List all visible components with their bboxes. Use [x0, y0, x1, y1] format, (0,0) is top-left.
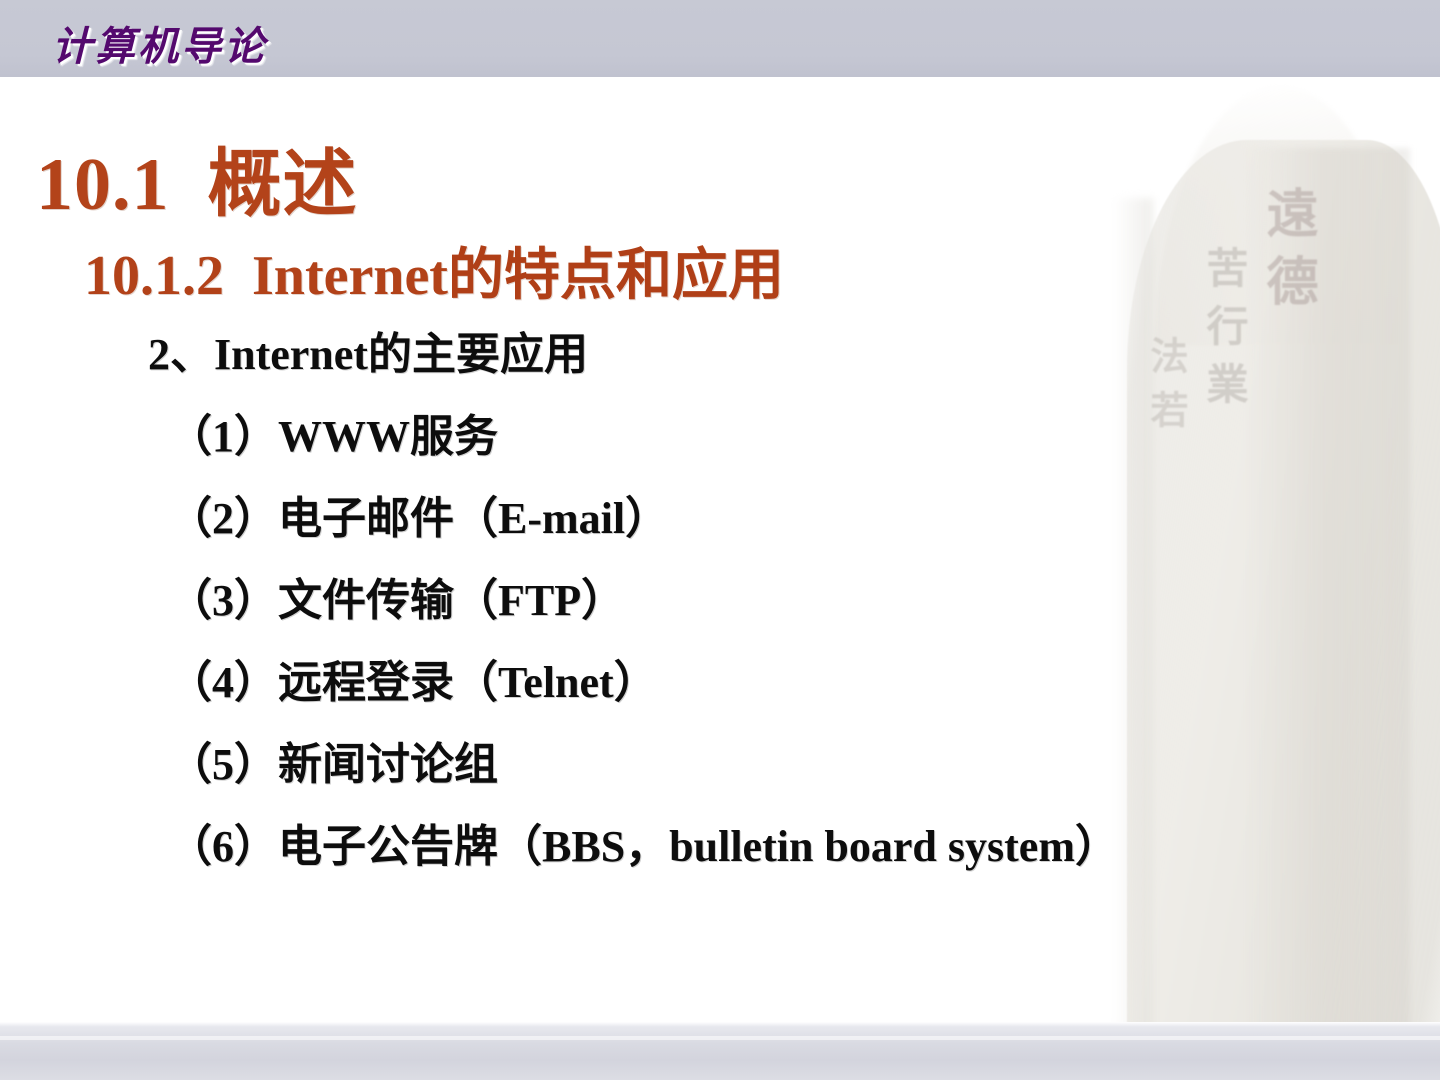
slide-canvas: 遠德 苦行業 法若 计算机导论 10.1概述 10.1.2 Internet的特… — [0, 0, 1440, 1080]
stele-left-edge — [1113, 198, 1153, 1022]
section-name: 概述 — [208, 144, 358, 226]
course-title: 计算机导论 — [52, 14, 267, 72]
calligraphy-column-3: 法若 — [1146, 336, 1184, 444]
section-subtitle: 10.1.2 Internet的特点和应用 — [84, 230, 784, 311]
subsection-name-cn: 的特点和应用 — [448, 245, 784, 307]
body-heading: 2、Internet的主要应用 — [148, 318, 588, 382]
calligraphy-column-2: 苦行業 — [1202, 246, 1244, 420]
calligraphy-column-1: 遠德 — [1260, 186, 1312, 322]
stele-peak-shape — [1155, 86, 1405, 346]
footer-highlight-line — [0, 1036, 1440, 1040]
list-item: （5）新闻讨论组 — [168, 724, 1119, 806]
subsection-name-en: Internet — [252, 245, 448, 307]
list-item: （1）WWW服务 — [168, 396, 1119, 478]
banner-underline — [0, 77, 1440, 80]
stele-shading — [1245, 148, 1410, 1022]
stone-stele-watermark: 遠德 苦行業 法若 — [1095, 78, 1440, 1022]
list-item: （3）文件传输（FTP） — [168, 560, 1119, 642]
subsection-number: 10.1.2 — [84, 245, 224, 307]
page-title: 10.1概述 — [36, 124, 358, 231]
section-number: 10.1 — [36, 144, 170, 226]
stele-body-shape — [1127, 140, 1440, 1022]
list-item: （2）电子邮件（E-mail） — [168, 478, 1119, 560]
footer-bar — [0, 1022, 1440, 1080]
list-item: （6）电子公告牌（BBS，bulletin board system） — [168, 806, 1119, 888]
application-list: （1）WWW服务 （2）电子邮件（E-mail） （3）文件传输（FTP） （4… — [168, 396, 1119, 888]
list-item: （4）远程登录（Telnet） — [168, 642, 1119, 724]
